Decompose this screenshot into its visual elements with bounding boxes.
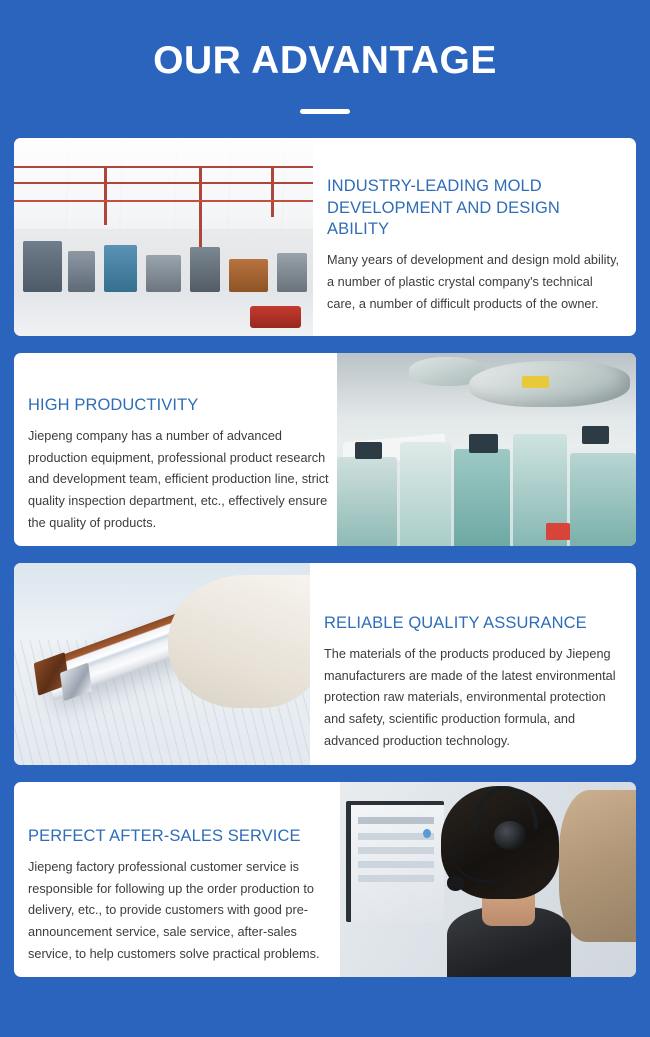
machines-photo-graphic	[337, 353, 636, 546]
machine-graphic	[277, 253, 307, 293]
control-panel-graphic	[469, 434, 499, 453]
card-image-customer-service-agent	[340, 782, 636, 977]
advantage-card[interactable]: HIGH PRODUCTIVITY Jiepeng company has a …	[14, 353, 636, 546]
factory-photo-graphic	[14, 138, 313, 336]
card-heading: HIGH PRODUCTIVITY	[28, 395, 331, 417]
page-header: OUR ADVANTAGE	[0, 0, 650, 114]
machine-graphic	[400, 442, 451, 546]
advantage-card-list: INDUSTRY-LEADING MOLD DEVELOPMENT AND DE…	[0, 138, 650, 977]
machine-graphic	[570, 453, 636, 546]
machine-graphic	[190, 247, 220, 293]
card-heading: RELIABLE QUALITY ASSURANCE	[324, 613, 620, 635]
card-body: HIGH PRODUCTIVITY Jiepeng company has a …	[14, 353, 337, 546]
red-equipment-graphic	[250, 306, 301, 328]
advantage-card[interactable]: INDUSTRY-LEADING MOLD DEVELOPMENT AND DE…	[14, 138, 636, 336]
card-heading: PERFECT AFTER-SALES SERVICE	[28, 826, 334, 848]
card-description: Jiepeng company has a number of advanced…	[28, 426, 331, 535]
machine-graphic	[454, 449, 511, 546]
card-description: The materials of the products produced b…	[324, 644, 620, 753]
control-panel-graphic	[355, 442, 382, 459]
profile-photo-graphic	[14, 563, 310, 765]
card-description: Jiepeng factory professional customer se…	[28, 857, 334, 966]
advantage-card[interactable]: RELIABLE QUALITY ASSURANCE The materials…	[14, 563, 636, 765]
machine-graphic	[23, 241, 62, 292]
duct-graphic	[469, 361, 630, 407]
machine-graphic	[146, 255, 182, 293]
support-photo-graphic	[340, 782, 636, 977]
title-divider	[300, 109, 350, 114]
monitor-graphic	[346, 801, 444, 922]
control-panel-graphic	[582, 426, 609, 443]
card-heading: INDUSTRY-LEADING MOLD DEVELOPMENT AND DE…	[327, 176, 620, 241]
card-image-factory-production-floor	[14, 138, 313, 336]
card-description: Many years of development and design mol…	[327, 250, 620, 316]
background-person-graphic	[559, 790, 636, 942]
machine-graphic	[337, 457, 397, 546]
advantage-card[interactable]: PERFECT AFTER-SALES SERVICE Jiepeng fact…	[14, 782, 636, 977]
card-body: INDUSTRY-LEADING MOLD DEVELOPMENT AND DE…	[313, 138, 636, 336]
pipe-icon	[104, 166, 107, 225]
carton-box-graphic	[229, 259, 268, 293]
page-title: OUR ADVANTAGE	[0, 40, 650, 83]
red-stool-graphic	[546, 523, 570, 540]
advantage-page: OUR ADVANTAGE	[0, 0, 650, 1037]
machine-graphic	[104, 245, 137, 293]
card-body: PERFECT AFTER-SALES SERVICE Jiepeng fact…	[14, 782, 340, 977]
machine-graphic	[68, 251, 95, 293]
card-image-aluminium-profile-product	[14, 563, 310, 765]
pipe-icon	[199, 166, 202, 249]
card-body: RELIABLE QUALITY ASSURANCE The materials…	[310, 563, 636, 765]
pipe-icon	[271, 166, 274, 217]
card-image-injection-molding-machines	[337, 353, 636, 546]
yellow-label-graphic	[522, 376, 549, 388]
